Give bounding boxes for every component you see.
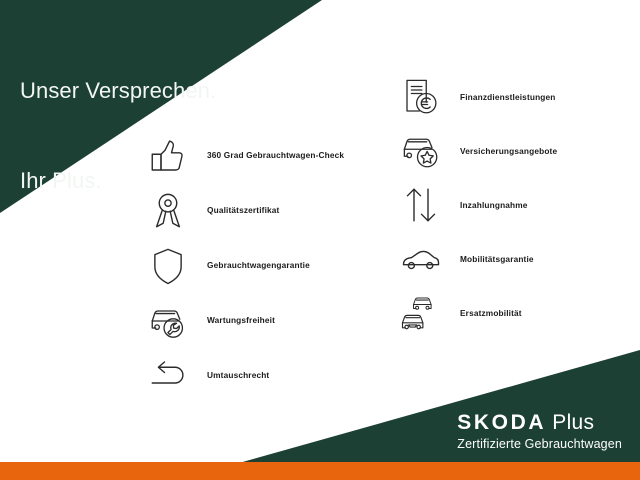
feature-label: Finanzdienstleistungen <box>460 92 556 103</box>
feature-list-left: 360 Grad Gebrauchtwagen-Check Qualitätsz… <box>145 128 385 403</box>
feature-item: Gebrauchtwagengarantie <box>145 238 385 293</box>
headline-line-1: Unser Versprechen. <box>20 76 216 106</box>
brand-wordmark: SKODA Plus <box>457 411 622 435</box>
car-star-icon <box>398 128 444 174</box>
return-arrow-icon <box>145 353 191 399</box>
brand-suffix: Plus <box>546 411 594 434</box>
two-cars-icon <box>398 290 444 336</box>
car-wrench-icon <box>145 298 191 344</box>
feature-item: Ersatzmobilität <box>398 286 628 340</box>
feature-item: Inzahlungnahme <box>398 178 628 232</box>
shield-icon <box>145 243 191 289</box>
feature-item: Umtauschrecht <box>145 348 385 403</box>
feature-item: 360 Grad Gebrauchtwagen-Check <box>145 128 385 183</box>
brand-tagline: Zertifizierte Gebrauchtwagen <box>457 436 622 452</box>
brand-name: SKODA <box>457 411 546 434</box>
feature-label: Mobilitätsgarantie <box>460 254 534 265</box>
feature-item: Versicherungsangebote <box>398 124 628 178</box>
award-rosette-icon <box>145 188 191 234</box>
feature-item: Wartungsfreiheit <box>145 293 385 348</box>
brand-lockup: SKODA Plus Zertifizierte Gebrauchtwagen <box>457 411 622 452</box>
feature-label: Wartungsfreiheit <box>207 315 275 326</box>
feature-label: 360 Grad Gebrauchtwagen-Check <box>207 150 344 161</box>
promo-banner: Unser Versprechen. Ihr Plus. 360 Grad Ge… <box>0 0 640 480</box>
feature-label: Ersatzmobilität <box>460 308 522 319</box>
feature-label: Inzahlungnahme <box>460 200 528 211</box>
document-euro-icon <box>398 74 444 120</box>
car-side-icon <box>398 236 444 282</box>
feature-item: Finanzdienstleistungen <box>398 70 628 124</box>
feature-label: Umtauschrecht <box>207 370 269 381</box>
feature-label: Qualitätszertifikat <box>207 205 279 216</box>
feature-item: Qualitätszertifikat <box>145 183 385 238</box>
up-down-arrows-icon <box>398 182 444 228</box>
feature-list-right: Finanzdienstleistungen Versicherungsange… <box>398 70 628 340</box>
thumbs-up-icon <box>145 133 191 179</box>
feature-label: Versicherungsangebote <box>460 146 557 157</box>
feature-item: Mobilitätsgarantie <box>398 232 628 286</box>
feature-label: Gebrauchtwagengarantie <box>207 260 310 271</box>
orange-bottom-bar <box>0 462 640 480</box>
